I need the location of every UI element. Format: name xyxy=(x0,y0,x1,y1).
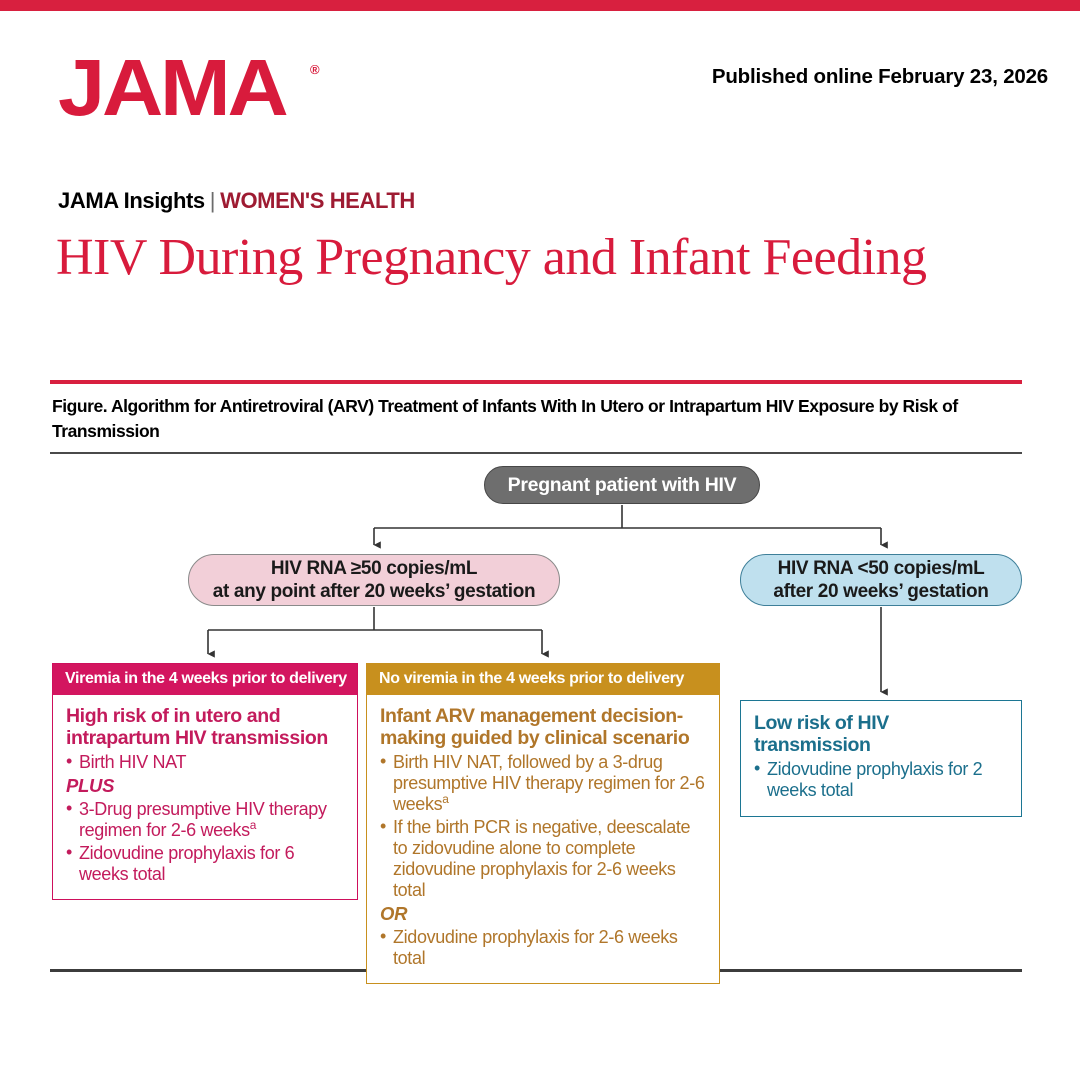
panel-viremia-conjunction-plus: PLUS xyxy=(66,775,345,797)
flow-node-high-viral-load: HIV RNA ≥50 copies/mL at any point after… xyxy=(188,554,560,606)
panel-viremia: Viremia in the 4 weeks prior to delivery… xyxy=(52,663,358,900)
panel-no-viremia-conjunction-or: OR xyxy=(380,903,707,925)
figure-header-rule xyxy=(50,452,1022,454)
list-item: Zidovudine prophylaxis for 2-6 weeks tot… xyxy=(380,927,707,969)
flow-node-low-viral-load: HIV RNA <50 copies/mL after 20 weeks’ ge… xyxy=(740,554,1022,606)
kicker-section: JAMA Insights xyxy=(58,188,205,213)
panel-viremia-body: High risk of in utero and intrapartum HI… xyxy=(53,695,357,899)
publication-date: Published online February 23, 2026 xyxy=(712,65,1048,89)
panel-viremia-list-2: 3-Drug presumptive HIV therapy regimen f… xyxy=(66,799,345,885)
kicker-category: WOMEN'S HEALTH xyxy=(220,188,415,213)
list-item-text: Birth HIV NAT, followed by a 3-drug pres… xyxy=(393,752,705,814)
article-kicker: JAMA Insights|WOMEN'S HEALTH xyxy=(58,188,415,214)
panel-no-viremia: No viremia in the 4 weeks prior to deliv… xyxy=(366,663,720,984)
list-item: 3-Drug presumptive HIV therapy regimen f… xyxy=(66,799,345,841)
footnote-marker: a xyxy=(442,792,448,806)
panel-viremia-title: High risk of in utero and intrapartum HI… xyxy=(66,705,345,749)
page-title: HIV During Pregnancy and Infant Feeding xyxy=(56,228,927,287)
flow-node-low-viral-load-line-2: after 20 weeks’ gestation xyxy=(773,580,988,603)
registered-trademark-icon: ® xyxy=(310,62,320,77)
flow-node-root: Pregnant patient with HIV xyxy=(484,466,760,504)
flow-node-high-viral-load-line-1: HIV RNA ≥50 copies/mL xyxy=(271,557,477,580)
panel-low-risk-list: Zidovudine prophylaxis for 2 weeks total xyxy=(754,759,1009,801)
panel-viremia-header: Viremia in the 4 weeks prior to delivery xyxy=(53,664,357,695)
top-accent-bar xyxy=(0,0,1080,11)
jama-logo: JAMA xyxy=(58,48,286,128)
panel-no-viremia-header: No viremia in the 4 weeks prior to deliv… xyxy=(367,664,719,695)
panel-no-viremia-list: Birth HIV NAT, followed by a 3-drug pres… xyxy=(380,752,707,901)
list-item: Zidovudine prophylaxis for 6 weeks total xyxy=(66,843,345,885)
footnote-marker: a xyxy=(250,818,256,832)
list-item: If the birth PCR is negative, deescalate… xyxy=(380,817,707,901)
flow-node-high-viral-load-line-2: at any point after 20 weeks’ gestation xyxy=(213,580,535,603)
masthead: JAMA ® Published online February 23, 202… xyxy=(58,48,1048,148)
panel-low-risk-title: Low risk of HIV transmission xyxy=(754,712,1009,756)
flow-node-root-label: Pregnant patient with HIV xyxy=(508,474,737,497)
panel-no-viremia-list-2: Zidovudine prophylaxis for 2-6 weeks tot… xyxy=(380,927,707,969)
figure-top-rule xyxy=(50,380,1022,384)
panel-no-viremia-body: Infant ARV management decision-making gu… xyxy=(367,695,719,983)
kicker-separator: | xyxy=(205,188,220,213)
panel-viremia-list: Birth HIV NAT xyxy=(66,752,345,773)
list-item: Zidovudine prophylaxis for 2 weeks total xyxy=(754,759,1009,801)
list-item: Birth HIV NAT, followed by a 3-drug pres… xyxy=(380,752,707,815)
panel-low-risk: Low risk of HIV transmission Zidovudine … xyxy=(740,700,1022,817)
figure-caption-line-1: Figure. Algorithm for Antiretroviral (AR… xyxy=(52,396,874,416)
panel-low-risk-body: Low risk of HIV transmission Zidovudine … xyxy=(741,701,1021,816)
panel-no-viremia-title: Infant ARV management decision-making gu… xyxy=(380,705,707,749)
list-item: Birth HIV NAT xyxy=(66,752,345,773)
figure-caption: Figure. Algorithm for Antiretroviral (AR… xyxy=(52,394,1012,444)
list-item-text: 3-Drug presumptive HIV therapy regimen f… xyxy=(79,799,327,840)
flow-node-low-viral-load-line-1: HIV RNA <50 copies/mL xyxy=(778,557,985,580)
